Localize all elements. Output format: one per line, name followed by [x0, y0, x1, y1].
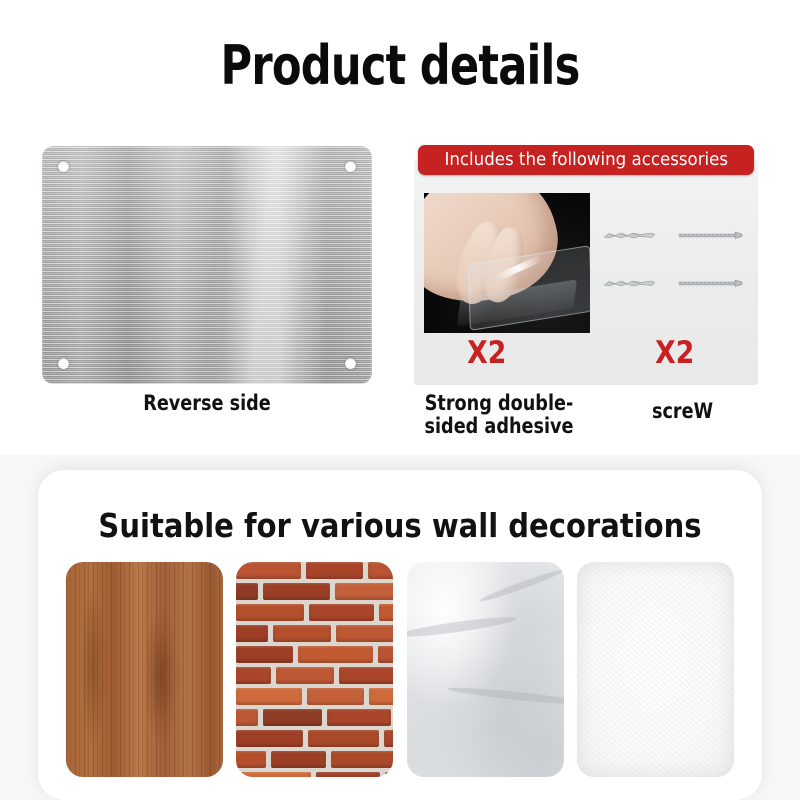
brick-course	[236, 688, 393, 709]
adhesive-caption-line1: Strong double-	[419, 392, 579, 415]
brick	[368, 562, 393, 579]
mounting-hole-icon	[345, 358, 356, 369]
screw-icon	[672, 277, 746, 290]
brick	[236, 688, 302, 705]
screw-icon	[672, 229, 746, 242]
brick	[263, 583, 330, 600]
brick-course	[236, 667, 393, 688]
brick	[236, 667, 271, 684]
wall-decoration-card: Suitable for various wall decorations	[38, 470, 762, 800]
brick	[384, 730, 393, 747]
hardware-photo	[600, 193, 752, 333]
brick-course	[236, 583, 393, 604]
brick	[236, 772, 311, 777]
plaster-edge-shading	[577, 562, 734, 777]
wall-anchor-icon	[600, 277, 658, 290]
brick	[379, 604, 393, 621]
marble-vein	[447, 685, 564, 708]
brick-course	[236, 604, 393, 625]
brick	[336, 625, 393, 642]
metal-plate-image	[42, 146, 372, 384]
wall-section-title: Suitable for various wall decorations	[81, 506, 718, 545]
brick	[236, 646, 293, 663]
brick	[327, 709, 391, 726]
wall-anchor-icon	[600, 229, 658, 242]
brick	[378, 646, 393, 663]
brick	[385, 772, 393, 777]
brick	[308, 730, 379, 747]
wood-knot-detail	[144, 606, 178, 746]
adhesive-photo	[424, 193, 590, 333]
brick	[263, 709, 322, 726]
mounting-hole-icon	[58, 161, 69, 172]
adhesive-caption-line2: sided adhesive	[419, 415, 579, 438]
swatch-brick	[236, 562, 393, 777]
brick	[331, 751, 393, 768]
adhesive-quantity-label: X2	[467, 335, 506, 371]
swatch-plaster	[577, 562, 734, 777]
brick-course	[236, 562, 393, 583]
brick-course	[236, 646, 393, 667]
brick	[236, 709, 258, 726]
wall-swatch-row	[66, 562, 734, 777]
brick-pattern	[236, 562, 393, 777]
brick	[316, 772, 380, 777]
swatch-marble	[407, 562, 564, 777]
reverse-side-caption: Reverse side	[68, 392, 345, 415]
brick	[306, 562, 363, 579]
brick-course	[236, 772, 393, 777]
brick	[236, 751, 266, 768]
brick	[339, 667, 393, 684]
adhesive-caption: Strong double- sided adhesive	[419, 392, 579, 437]
brick	[335, 583, 393, 600]
screw-quantity-label: X2	[655, 335, 694, 371]
accessories-banner-label: Includes the following accessories	[444, 150, 728, 170]
mounting-hole-icon	[58, 358, 69, 369]
brick-course	[236, 751, 393, 772]
marble-vein	[407, 614, 517, 641]
brick	[236, 730, 303, 747]
marble-vein	[478, 567, 563, 604]
brick	[307, 688, 364, 705]
accessories-banner: Includes the following accessories	[418, 145, 754, 175]
screw-caption: screW	[622, 400, 744, 423]
brick	[236, 625, 268, 642]
wood-grain-detail	[80, 582, 106, 752]
brick	[271, 751, 326, 768]
brick-course	[236, 625, 393, 646]
brick	[273, 625, 331, 642]
swatch-wood	[66, 562, 223, 777]
brick	[236, 583, 258, 600]
reverse-side-product-block	[42, 146, 372, 384]
page-title: Product details	[80, 34, 720, 97]
brick	[309, 604, 374, 621]
brick	[369, 688, 393, 705]
brick	[236, 562, 301, 579]
brick	[236, 604, 304, 621]
brick	[276, 667, 334, 684]
brick	[298, 646, 373, 663]
accessories-panel: Includes the following accessories	[414, 145, 758, 385]
brick-course	[236, 709, 393, 730]
brick-course	[236, 730, 393, 751]
mounting-hole-icon	[345, 161, 356, 172]
